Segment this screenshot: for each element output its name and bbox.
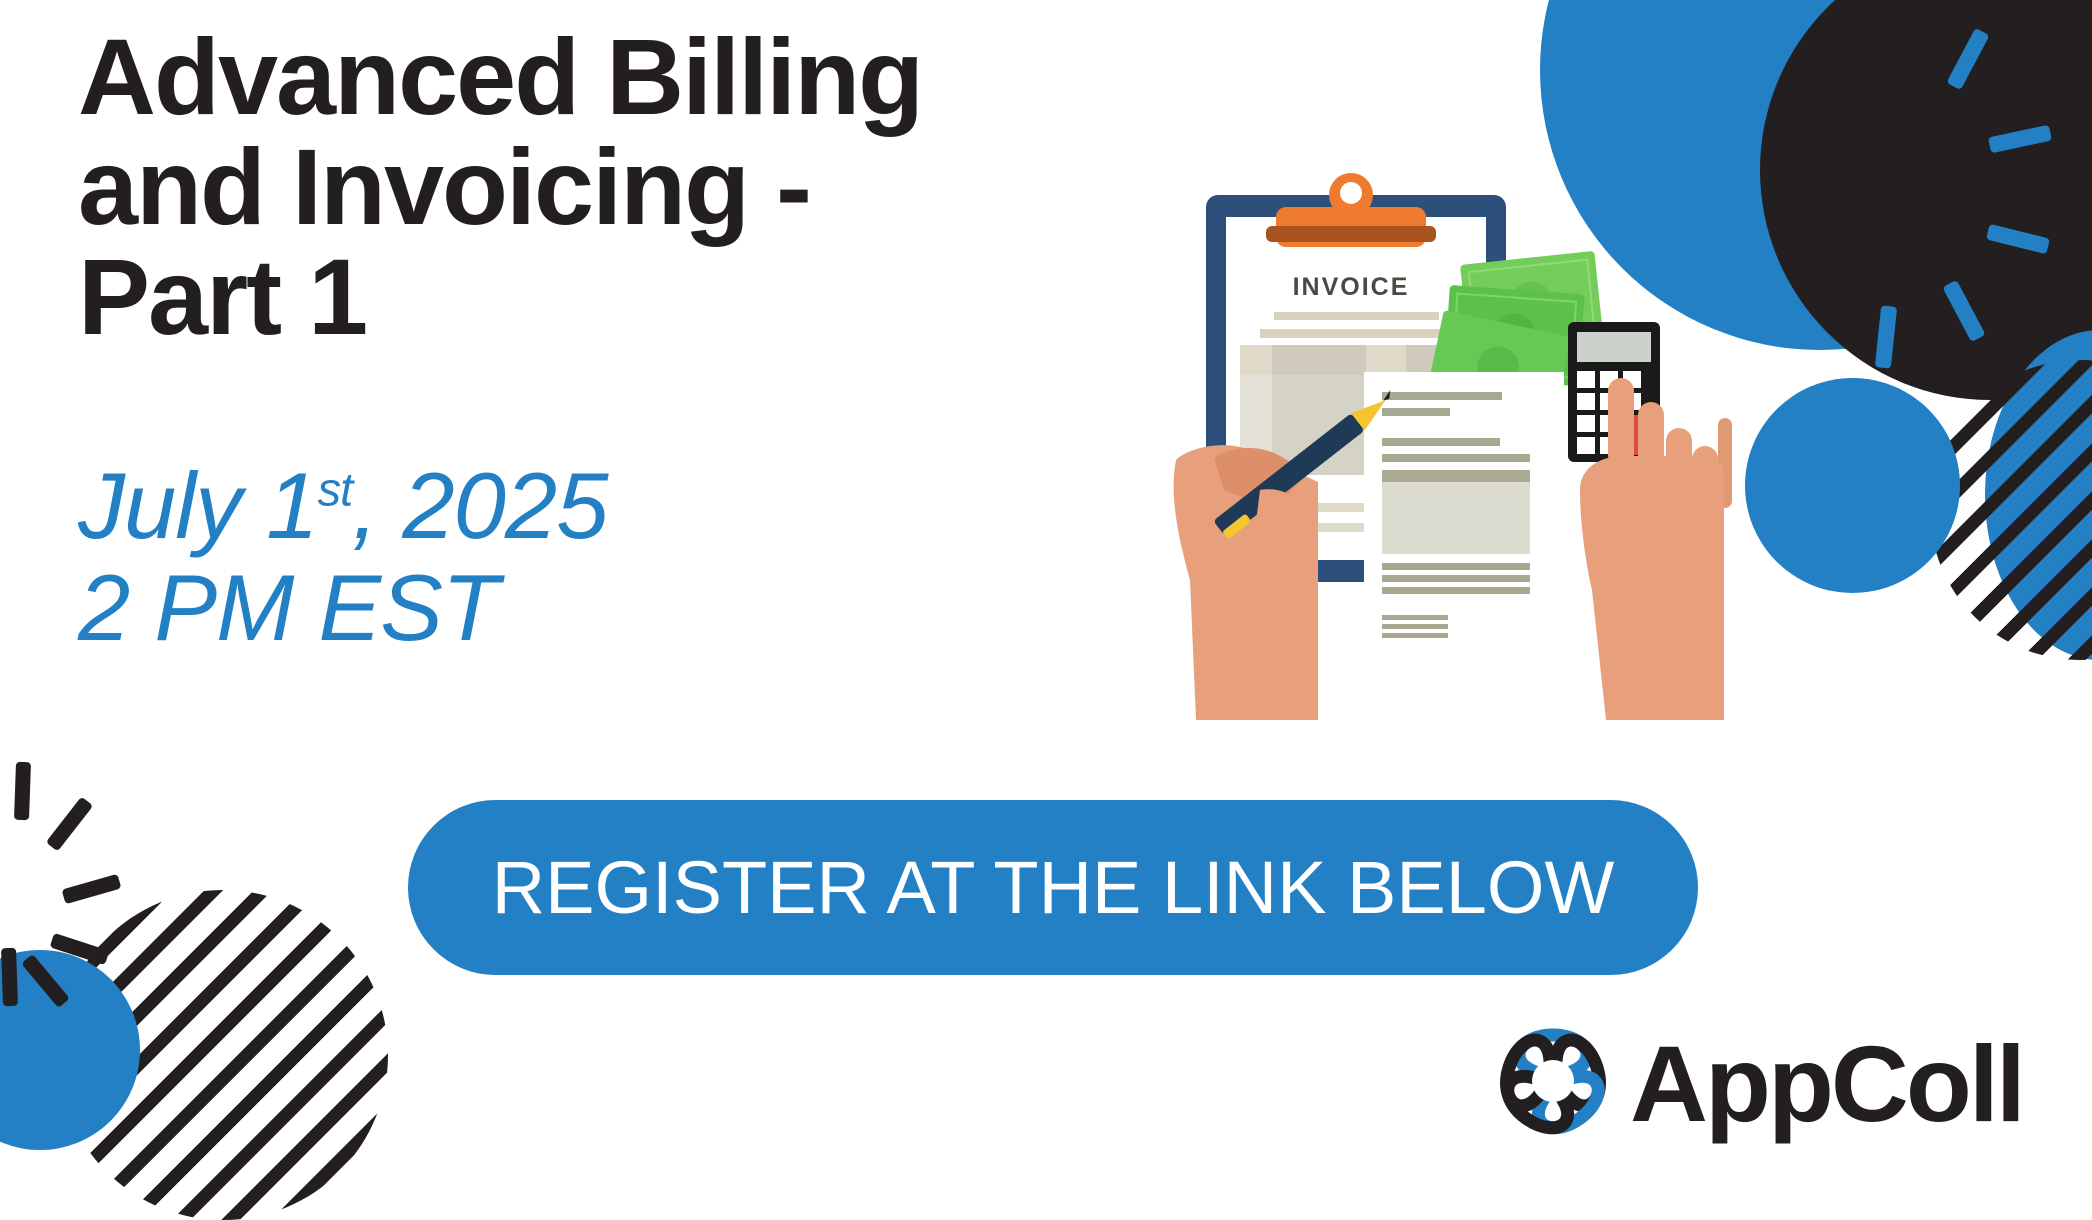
brand-wordmark: AppColl — [1630, 1030, 2023, 1138]
event-date-ordinal: st — [318, 463, 353, 516]
event-date-line: July 1st, 2025 — [78, 455, 1128, 557]
register-button-label: REGISTER AT THE LINK BELOW — [492, 845, 1615, 930]
brand-logo: AppColl — [1494, 1022, 2023, 1145]
banner-canvas: INVOICE — [0, 0, 2092, 1182]
event-date-prefix: July 1 — [78, 453, 318, 558]
blue-circle-right-decoration — [1745, 378, 1960, 593]
event-datetime: July 1st, 2025 2 PM EST — [78, 455, 1128, 658]
headline-line-1: Advanced Billing — [78, 16, 922, 137]
event-date-suffix: , 2025 — [352, 453, 607, 558]
appcoll-ring-icon — [1494, 1022, 1612, 1145]
event-time-line: 2 PM EST — [78, 557, 1128, 659]
headline-line-2: and Invoicing - — [78, 126, 810, 247]
invoice-billing-illustration: INVOICE — [1168, 160, 1728, 720]
page-title: Advanced Billing and Invoicing - Part 1 — [78, 22, 1198, 352]
svg-text:INVOICE: INVOICE — [1293, 273, 1410, 301]
register-button[interactable]: REGISTER AT THE LINK BELOW — [408, 800, 1698, 975]
headline-line-3: Part 1 — [78, 236, 366, 357]
black-burst-dashes-bottom-left — [0, 740, 300, 1030]
blue-burst-dashes-top-right — [1760, 0, 2092, 400]
